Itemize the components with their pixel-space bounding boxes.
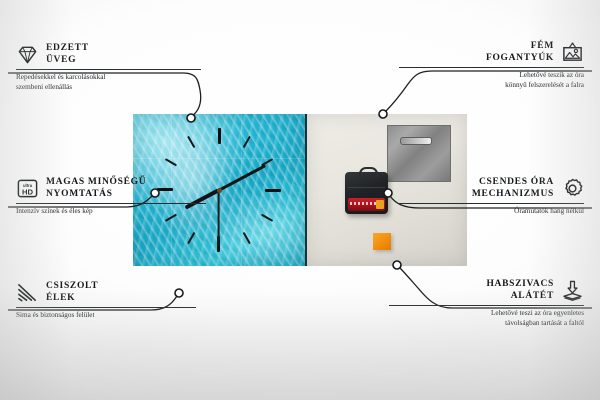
feature-title-line1: CSENDES ÓRA	[472, 176, 554, 188]
feature-title-line1: HABSZIVACS	[486, 278, 554, 290]
feature-desc-line2: szembeni ellenállás	[16, 83, 201, 93]
svg-text:HD: HD	[22, 187, 34, 196]
feature-title-row: ultra HD MAGAS MINŐSÉGŰ NYOMTATÁS	[16, 176, 206, 200]
feature-desc-line2: könnyű felszerelését a falra	[399, 81, 584, 91]
feature-high-quality-print[interactable]: ultra HD MAGAS MINŐSÉGŰ NYOMTATÁS Intenz…	[16, 176, 206, 217]
feature-title-line2: MECHANIZMUS	[472, 188, 554, 200]
feature-title-row: HABSZIVACS ALÁTÉT	[389, 278, 584, 302]
feature-desc-line1: Lehetővé teszi az óra egyenletes	[389, 309, 584, 319]
feature-title-line1: CSISZOLT	[46, 280, 98, 292]
clock-mechanism-box	[345, 172, 388, 214]
diamond-icon	[16, 43, 39, 66]
feature-title-line2: ÉLEK	[46, 292, 98, 304]
feature-desc-line1: Repedésekkel és karcolásokkal	[16, 73, 201, 83]
divider	[16, 307, 196, 308]
feature-title-line2: NYOMTATÁS	[46, 188, 146, 200]
feature-title-line2: ÜVEG	[46, 54, 89, 66]
metal-hanger-plate	[387, 125, 451, 182]
feature-desc-line1: Lehetővé teszik az óra	[399, 71, 584, 81]
feature-silent-clock-mechanism[interactable]: CSENDES ÓRA MECHANIZMUS Óramutatók hang …	[399, 176, 584, 217]
feature-title-line1: EDZETT	[46, 42, 89, 54]
feature-tempered-glass[interactable]: EDZETT ÜVEG Repedésekkel és karcolásokka…	[16, 42, 201, 92]
clock-center-pin	[217, 188, 222, 193]
feature-desc-line1: Óramutatók hang nélkül	[399, 207, 584, 217]
infographic-canvas: EDZETT ÜVEG Repedésekkel és karcolásokka…	[0, 0, 600, 400]
framed-picture-hanging-icon	[561, 41, 584, 64]
divider	[399, 203, 584, 204]
divider	[16, 69, 201, 70]
diagonal-lines-icon	[16, 281, 39, 304]
arrow-down-onto-pad-icon	[561, 279, 584, 302]
gear-icon	[561, 177, 584, 200]
divider	[399, 67, 584, 68]
feature-title-row: CSISZOLT ÉLEK	[16, 280, 196, 304]
feature-title-line2: FOGANTYÚK	[486, 52, 554, 64]
feature-title-row: CSENDES ÓRA MECHANIZMUS	[399, 176, 584, 200]
feature-metal-handles[interactable]: FÉM FOGANTYÚK Lehetővé teszik az óra kön…	[399, 40, 584, 90]
feature-desc-line2: távolságban tartását a faltól	[389, 319, 584, 329]
foam-pad-spacer	[373, 233, 391, 250]
divider	[389, 305, 584, 306]
divider	[16, 203, 206, 204]
clock-second-hand	[218, 190, 220, 247]
feature-foam-pad[interactable]: HABSZIVACS ALÁTÉT Lehetővé teszi az óra …	[389, 278, 584, 328]
feature-title-line2: ALÁTÉT	[486, 290, 554, 302]
feature-desc-line1: Intenzív színek és éles kép	[16, 207, 206, 217]
feature-title-line1: FÉM	[486, 40, 554, 52]
feature-title-row: FÉM FOGANTYÚK	[399, 40, 584, 64]
feature-polished-edges[interactable]: CSISZOLT ÉLEK Sima és biztonságos felüle…	[16, 280, 196, 321]
feature-title-line1: MAGAS MINŐSÉGŰ	[46, 176, 146, 188]
battery	[348, 198, 385, 211]
feature-desc-line1: Sima és biztonságos felület	[16, 311, 196, 321]
feature-title-row: EDZETT ÜVEG	[16, 42, 201, 66]
ultra-hd-badge-icon: ultra HD	[16, 177, 39, 200]
